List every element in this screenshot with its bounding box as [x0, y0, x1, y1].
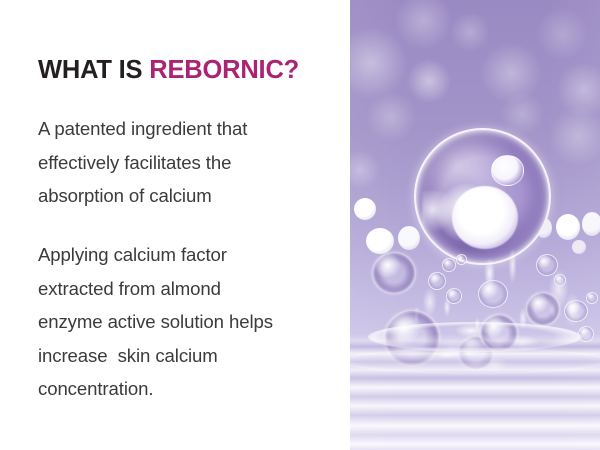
splash-bubble: [428, 272, 446, 290]
water-bubble-image: [350, 0, 600, 450]
bokeh-icon: [450, 12, 490, 52]
splash-bubble: [446, 288, 462, 304]
paragraph-line: increase skin calcium: [38, 339, 338, 373]
light-dot-icon: [572, 240, 586, 254]
paragraph-line: concentration.: [38, 372, 338, 406]
bokeh-icon: [480, 42, 542, 104]
splash-bubble: [442, 258, 456, 272]
bokeh-icon: [394, 0, 452, 50]
main-bubble: [414, 128, 551, 265]
bokeh-icon: [536, 8, 588, 60]
water-surface: [350, 334, 600, 450]
light-dot-icon: [556, 214, 580, 240]
paragraph-line: A patented ingredient that: [38, 112, 338, 146]
page-title-accent: REBORNIC?: [149, 56, 299, 84]
splash-bubble: [372, 252, 416, 294]
splash-bubble: [536, 254, 558, 276]
bokeh-icon: [350, 150, 380, 190]
bokeh-icon: [366, 92, 416, 142]
bokeh-icon: [350, 26, 408, 100]
slide-root: WHAT IS REBORNIC? A patented ingredient …: [0, 0, 600, 450]
page-title: WHAT IS REBORNIC?: [38, 56, 299, 84]
text-panel: WHAT IS REBORNIC? A patented ingredient …: [0, 0, 350, 450]
splash-bubble: [478, 280, 508, 308]
bokeh-icon: [406, 58, 452, 104]
bokeh-icon: [548, 106, 600, 166]
light-dot-icon: [366, 228, 394, 254]
bokeh-icon: [556, 62, 600, 118]
bokeh-icon: [500, 92, 544, 136]
splash-bubble: [526, 292, 560, 326]
light-dot-icon: [354, 198, 376, 220]
light-dot-icon: [582, 212, 600, 236]
page-title-prefix: WHAT IS: [38, 56, 149, 84]
detail-paragraph: Applying calcium factor extracted from a…: [38, 238, 338, 406]
light-dot-icon: [398, 226, 420, 250]
splash-bubble: [564, 300, 588, 322]
bubble-rim: [414, 128, 551, 265]
paragraph-line: absorption of calcium: [38, 179, 338, 213]
splash-bubble: [456, 254, 467, 265]
splash-bubble: [554, 274, 566, 286]
paragraph-line: extracted from almond: [38, 272, 338, 306]
paragraph-line: effectively facilitates the: [38, 146, 338, 180]
paragraph-line: enzyme active solution helps: [38, 305, 338, 339]
paragraph-line: Applying calcium factor: [38, 238, 338, 272]
splash-bubble: [586, 292, 598, 304]
intro-paragraph: A patented ingredient that effectively f…: [38, 112, 338, 213]
